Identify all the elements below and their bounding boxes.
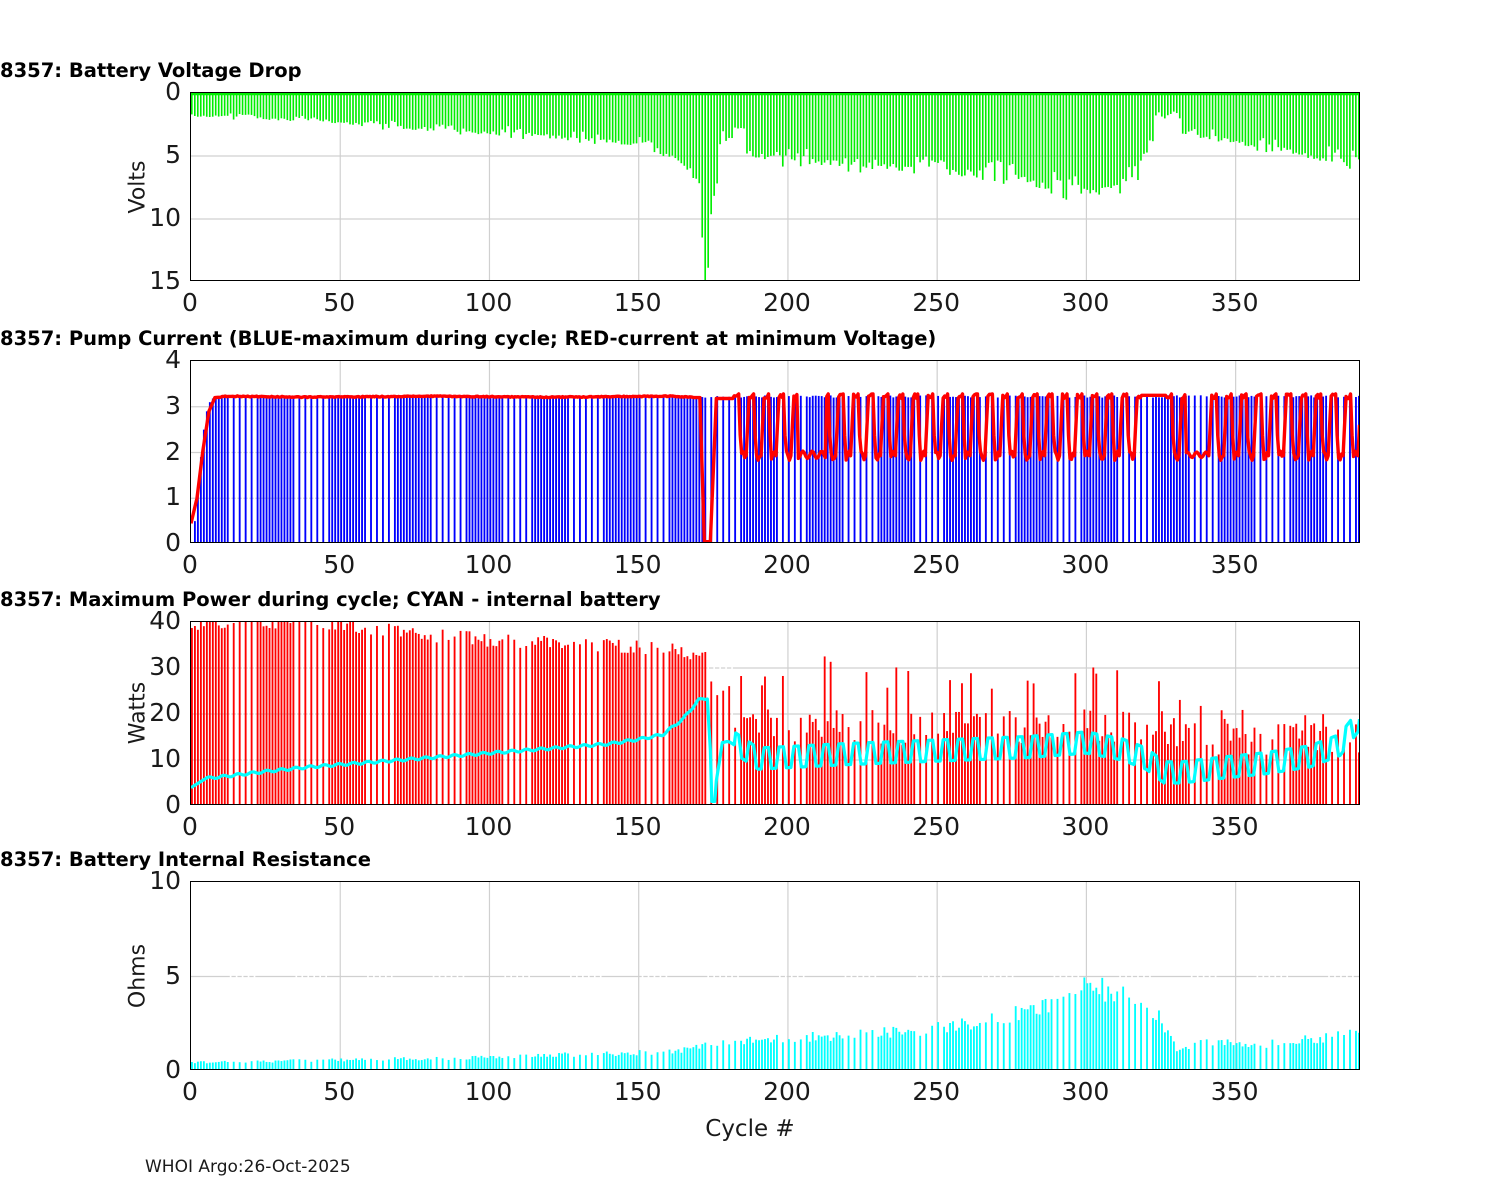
internal-resistance-bar xyxy=(1107,986,1109,1070)
pump-current-max-bar xyxy=(1116,397,1118,543)
comb-gap xyxy=(325,882,327,1070)
internal-resistance-bar xyxy=(669,1050,671,1070)
internal-resistance-bar xyxy=(266,1062,268,1070)
voltage-drop-bar xyxy=(322,93,324,121)
internal-resistance-bar xyxy=(680,1053,682,1070)
maximum-power-bar xyxy=(349,622,351,805)
pump-current-max-bar xyxy=(484,397,486,543)
maximum-power-bar xyxy=(1027,681,1029,805)
internal-resistance-bar xyxy=(764,1039,766,1070)
voltage-drop-bar xyxy=(985,93,987,167)
maximum-power-bar xyxy=(872,710,874,805)
internal-resistance-bar xyxy=(454,1058,456,1070)
voltage-drop-bar xyxy=(791,93,793,159)
pump-current-max-bar xyxy=(1057,396,1059,543)
voltage-drop-bar xyxy=(209,93,211,117)
comb-gap xyxy=(236,622,238,805)
comb-gap xyxy=(254,882,256,1070)
maximum-power-bar xyxy=(269,628,271,805)
pump-current-max-bar xyxy=(513,396,515,543)
maximum-power-bar xyxy=(663,653,665,805)
voltage-drop-bar xyxy=(540,93,542,135)
maximum-power-bar xyxy=(624,653,626,805)
voltage-drop-bar xyxy=(364,93,366,122)
internal-resistance-bar xyxy=(478,1057,480,1070)
internal-resistance-bar xyxy=(1033,1005,1035,1070)
internal-resistance-bar xyxy=(269,1062,271,1070)
pump-current-max-bar xyxy=(310,397,312,543)
internal-resistance-bar xyxy=(919,1036,921,1070)
voltage-drop-bar xyxy=(779,93,781,155)
internal-resistance-bar xyxy=(355,1058,357,1070)
comb-gap xyxy=(666,882,668,1070)
voltage-drop-bar xyxy=(776,93,778,152)
voltage-drop-bar xyxy=(824,93,826,163)
voltage-drop-bar xyxy=(191,93,193,114)
voltage-drop-bar xyxy=(889,93,891,166)
voltage-drop-bar xyxy=(1286,93,1288,150)
internal-resistance-bar xyxy=(836,1032,838,1070)
internal-resistance-bar xyxy=(191,1062,193,1070)
maximum-power-bar xyxy=(284,622,286,805)
comb-gap xyxy=(1077,882,1079,1070)
internal-resistance-bar xyxy=(573,1057,575,1070)
pump-current-max-bar xyxy=(272,396,274,543)
internal-resistance-bar xyxy=(860,1030,862,1070)
voltage-drop-bar xyxy=(1185,93,1187,134)
voltage-drop-bar xyxy=(257,93,259,118)
voltage-drop-bar xyxy=(1313,93,1315,159)
voltage-drop-bar xyxy=(1104,93,1106,187)
comb-gap xyxy=(845,882,847,1070)
internal-resistance-bar xyxy=(827,1035,829,1070)
pump-current-max-bar xyxy=(689,398,691,543)
comb-gap xyxy=(230,882,232,1070)
voltage-drop-bar xyxy=(430,93,432,128)
internal-resistance-bar xyxy=(552,1057,554,1070)
voltage-drop-bar xyxy=(331,93,333,123)
internal-resistance-bar xyxy=(907,1030,909,1070)
voltage-drop-bar xyxy=(1343,93,1345,162)
voltage-drop-bar xyxy=(316,93,318,119)
internal-resistance-bar xyxy=(818,1035,820,1070)
maximum-power-bar xyxy=(382,635,384,805)
internal-resistance-bar xyxy=(448,1060,450,1070)
voltage-drop-bar xyxy=(337,93,339,122)
comb-gap xyxy=(857,882,859,1070)
maximum-power-bar xyxy=(448,640,450,805)
pump-current-max-bar xyxy=(403,396,405,543)
voltage-drop-bar xyxy=(358,93,360,124)
maximum-power-bar xyxy=(997,734,999,805)
voltage-drop-bar xyxy=(1236,93,1238,141)
maximum-power-bar xyxy=(633,652,635,805)
internal-resistance-bar xyxy=(806,1035,808,1070)
comb-gap xyxy=(1149,882,1151,1070)
internal-resistance-bar xyxy=(501,1058,503,1070)
voltage-drop-bar xyxy=(239,93,241,114)
internal-resistance-bar xyxy=(337,1061,339,1070)
voltage-drop-bar xyxy=(1036,93,1038,187)
voltage-drop-bar xyxy=(424,93,426,127)
voltage-drop-bar xyxy=(767,93,769,157)
internal-resistance-bar xyxy=(361,1058,363,1070)
maximum-power-bar xyxy=(561,648,563,805)
voltage-drop-bar xyxy=(260,93,262,117)
internal-resistance-bar xyxy=(624,1053,626,1070)
maximum-power-bar xyxy=(1245,734,1247,805)
maximum-power-bar xyxy=(492,646,494,805)
internal-resistance-bar xyxy=(639,1050,641,1070)
maximum-power-bar xyxy=(364,628,366,805)
panel-2-ytick-1: 1 xyxy=(165,481,181,513)
internal-resistance-bar xyxy=(952,1021,954,1070)
voltage-drop-bar xyxy=(1086,93,1088,190)
internal-resistance-bar xyxy=(1260,1046,1262,1070)
voltage-drop-bar xyxy=(513,93,515,132)
internal-resistance-bar xyxy=(839,1035,841,1070)
maximum-power-bar xyxy=(1179,700,1181,805)
panel-4-plot-area xyxy=(190,881,1360,1070)
maximum-power-bar xyxy=(1176,746,1178,805)
maximum-power-bar xyxy=(1265,755,1267,805)
maximum-power-bar xyxy=(752,714,754,805)
comb-gap xyxy=(1274,361,1276,543)
voltage-drop-bar xyxy=(919,93,921,162)
internal-resistance-bar xyxy=(1045,999,1047,1070)
comb-gap xyxy=(928,361,930,543)
voltage-drop-bar xyxy=(275,93,277,119)
voltage-drop-bar xyxy=(854,93,856,162)
maximum-power-bar xyxy=(1349,742,1351,805)
internal-resistance-bar xyxy=(1170,1036,1172,1070)
voltage-drop-bar xyxy=(1083,93,1085,189)
comb-gap xyxy=(1263,882,1265,1070)
comb-gap xyxy=(242,882,244,1070)
comb-gap xyxy=(510,361,512,543)
pump-current-max-bar xyxy=(495,397,497,543)
pump-current-max-bar xyxy=(337,395,339,543)
internal-resistance-bar xyxy=(800,1039,802,1070)
maximum-power-bar xyxy=(1018,742,1020,805)
voltage-drop-bar xyxy=(866,93,868,168)
internal-resistance-bar xyxy=(1164,1032,1166,1070)
voltage-drop-bar xyxy=(1307,93,1309,158)
voltage-drop-bar xyxy=(367,93,369,122)
internal-resistance-bar xyxy=(1030,1005,1032,1070)
voltage-drop-bar xyxy=(448,93,450,126)
maximum-power-bar xyxy=(239,622,241,805)
voltage-drop-bar xyxy=(1304,93,1306,153)
internal-resistance-bar xyxy=(1325,1033,1327,1070)
voltage-drop-bar xyxy=(725,93,727,141)
internal-resistance-bar xyxy=(758,1040,760,1070)
pump-current-max-bar xyxy=(427,396,429,543)
pump-current-max-bar xyxy=(818,396,820,543)
pump-current-max-bar xyxy=(469,397,471,543)
internal-resistance-bar xyxy=(1113,1001,1115,1070)
pump-current-max-bar xyxy=(316,396,318,543)
maximum-power-bar xyxy=(1260,734,1262,805)
maximum-power-bar xyxy=(403,630,405,805)
maximum-power-bar xyxy=(1358,752,1360,805)
voltage-drop-bar xyxy=(475,93,477,133)
internal-resistance-bar xyxy=(263,1061,265,1070)
comb-gap xyxy=(988,361,990,543)
voltage-drop-bar xyxy=(818,93,820,161)
maximum-power-bar xyxy=(1173,718,1175,805)
voltage-drop-bar xyxy=(558,93,560,136)
voltage-drop-bar xyxy=(1006,93,1008,180)
comb-gap xyxy=(1340,882,1342,1070)
voltage-drop-bar xyxy=(1263,93,1265,138)
voltage-drop-bar xyxy=(609,93,611,140)
maximum-power-bar xyxy=(603,640,605,805)
pump-current-max-bar xyxy=(663,396,665,543)
comb-gap xyxy=(1215,882,1217,1070)
voltage-drop-bar xyxy=(507,93,509,126)
internal-resistance-bar xyxy=(287,1060,289,1070)
maximum-power-bar xyxy=(498,641,500,805)
internal-resistance-bar xyxy=(364,1060,366,1070)
voltage-drop-bar xyxy=(737,93,739,129)
maximum-power-bar xyxy=(898,743,900,805)
pump-current-max-bar xyxy=(573,396,575,543)
pump-current-max-bar xyxy=(639,396,641,543)
voltage-drop-bar xyxy=(872,93,874,169)
voltage-drop-bar xyxy=(484,93,486,132)
pump-current-max-bar xyxy=(743,397,745,543)
maximum-power-bar xyxy=(585,639,587,805)
voltage-drop-bar xyxy=(672,93,674,156)
internal-resistance-bar xyxy=(1063,997,1065,1070)
comb-gap xyxy=(648,622,650,805)
pump-current-max-bar xyxy=(388,396,390,543)
voltage-drop-bar xyxy=(728,93,730,138)
internal-resistance-bar xyxy=(415,1059,417,1070)
pump-current-max-bar xyxy=(397,396,399,543)
maximum-power-bar xyxy=(630,647,632,805)
internal-resistance-bar xyxy=(788,1039,790,1070)
voltage-drop-bar xyxy=(698,93,700,183)
voltage-drop-bar xyxy=(442,93,444,125)
internal-resistance-bar xyxy=(1343,1035,1345,1070)
maximum-power-bar xyxy=(352,622,354,805)
voltage-drop-bar xyxy=(1131,93,1133,177)
pump-current-max-bar xyxy=(361,397,363,543)
panel-1-xtick-250: 250 xyxy=(896,287,976,319)
pump-current-max-bar xyxy=(1158,397,1160,543)
maximum-power-bar xyxy=(334,630,336,805)
internal-resistance-bar xyxy=(409,1059,411,1070)
comb-gap xyxy=(707,882,709,1070)
panel-3-xtick-0: 0 xyxy=(150,811,230,843)
voltage-drop-bar xyxy=(576,93,578,138)
internal-resistance-bar xyxy=(1245,1044,1247,1070)
internal-resistance-bar xyxy=(1101,978,1103,1070)
voltage-drop-bar xyxy=(1137,93,1139,180)
internal-resistance-bar xyxy=(782,1042,784,1070)
voltage-drop-bar xyxy=(1048,93,1050,188)
maximum-power-bar xyxy=(749,717,751,805)
pump-current-max-bar xyxy=(346,396,348,543)
comb-gap xyxy=(1137,882,1139,1070)
maximum-power-bar xyxy=(460,631,462,805)
voltage-drop-bar xyxy=(361,93,363,126)
pump-current-max-bar xyxy=(334,398,336,543)
pump-current-max-bar xyxy=(967,396,969,543)
internal-resistance-bar xyxy=(349,1060,351,1070)
pump-current-max-bar xyxy=(1200,395,1202,543)
pump-current-max-bar xyxy=(561,396,563,543)
voltage-drop-bar xyxy=(319,93,321,121)
comb-gap xyxy=(869,361,871,543)
comb-gap xyxy=(916,882,918,1070)
internal-resistance-bar xyxy=(430,1059,432,1070)
internal-resistance-bar xyxy=(943,1027,945,1070)
voltage-drop-bar xyxy=(546,93,548,134)
internal-resistance-bar xyxy=(436,1057,438,1070)
voltage-drop-bar xyxy=(537,93,539,135)
pump-current-max-bar xyxy=(621,396,623,543)
pump-current-max-bar xyxy=(615,395,617,543)
pump-current-max-bar xyxy=(436,398,438,543)
maximum-power-bar xyxy=(1316,750,1318,805)
comb-gap xyxy=(863,882,865,1070)
maximum-power-bar xyxy=(967,723,969,805)
comb-gap xyxy=(504,882,506,1070)
voltage-drop-bar xyxy=(266,93,268,119)
pump-current-max-bar xyxy=(415,397,417,543)
maximum-power-bar xyxy=(552,639,554,805)
comb-gap xyxy=(307,361,309,543)
voltage-drop-bar xyxy=(218,93,220,117)
voltage-drop-bar xyxy=(755,93,757,157)
voltage-drop-bar xyxy=(1310,93,1312,156)
voltage-drop-bar xyxy=(657,93,659,148)
voltage-drop-bar xyxy=(860,93,862,172)
voltage-drop-bar xyxy=(1337,93,1339,149)
pump-current-max-bar xyxy=(815,396,817,543)
voltage-drop-bar xyxy=(603,93,605,140)
internal-resistance-bar xyxy=(740,1041,742,1070)
internal-resistance-bar xyxy=(1146,1008,1148,1070)
internal-resistance-bar xyxy=(376,1060,378,1070)
comb-gap xyxy=(1334,882,1336,1070)
maximum-power-bar xyxy=(657,648,659,805)
voltage-drop-bar xyxy=(1039,93,1041,188)
maximum-power-bar xyxy=(1325,727,1327,805)
pump-current-max-bar xyxy=(1155,397,1157,543)
voltage-drop-bar xyxy=(451,93,453,126)
internal-resistance-bar xyxy=(728,1044,730,1070)
voltage-drop-bar xyxy=(710,93,712,214)
comb-gap xyxy=(725,882,727,1070)
maximum-power-bar xyxy=(388,624,390,805)
comb-gap xyxy=(1012,882,1014,1070)
comb-gap xyxy=(367,622,369,805)
internal-resistance-bar xyxy=(1122,987,1124,1070)
internal-resistance-bar xyxy=(525,1055,527,1070)
comb-gap xyxy=(528,622,530,805)
maximum-power-bar xyxy=(397,626,399,805)
internal-resistance-bar xyxy=(1292,1043,1294,1070)
maximum-power-bar xyxy=(1295,724,1297,805)
voltage-drop-bar xyxy=(1027,93,1029,182)
voltage-drop-bar xyxy=(501,93,503,130)
voltage-drop-bar xyxy=(1152,93,1154,141)
comb-gap xyxy=(1143,361,1145,543)
voltage-drop-bar xyxy=(982,93,984,180)
voltage-drop-bar xyxy=(1012,93,1014,164)
internal-resistance-bar xyxy=(406,1060,408,1070)
voltage-drop-bar xyxy=(340,93,342,123)
comb-gap xyxy=(1066,882,1068,1070)
internal-resistance-bar xyxy=(815,1040,817,1070)
voltage-drop-bar xyxy=(716,93,718,183)
comb-gap xyxy=(528,361,530,543)
maximum-power-bar xyxy=(519,648,521,805)
voltage-drop-bar xyxy=(1134,93,1136,166)
panel-3-ytick-30: 30 xyxy=(149,651,181,683)
voltage-drop-bar xyxy=(543,93,545,135)
internal-resistance-bar xyxy=(546,1057,548,1070)
voltage-drop-bar xyxy=(1167,93,1169,115)
internal-resistance-bar xyxy=(949,1023,951,1070)
maximum-power-bar xyxy=(481,641,483,805)
comb-gap xyxy=(731,622,733,805)
maximum-power-bar xyxy=(678,654,680,805)
comb-gap xyxy=(1191,882,1193,1070)
internal-resistance-bar xyxy=(1313,1043,1315,1070)
pump-current-max-bar xyxy=(245,396,247,543)
internal-resistance-bar xyxy=(970,1029,972,1070)
maximum-power-bar xyxy=(1146,725,1148,805)
pump-current-max-bar xyxy=(525,397,527,543)
comb-gap xyxy=(379,882,381,1070)
maximum-power-bar xyxy=(442,630,444,805)
comb-gap xyxy=(803,882,805,1070)
voltage-drop-bar xyxy=(289,93,291,121)
internal-resistance-bar xyxy=(1083,977,1085,1070)
comb-gap xyxy=(1286,361,1288,543)
comb-gap xyxy=(576,622,578,805)
maximum-power-bar xyxy=(645,654,647,805)
maximum-power-bar xyxy=(343,630,345,805)
voltage-drop-bar xyxy=(910,93,912,167)
voltage-drop-bar xyxy=(534,93,536,134)
internal-resistance-bar xyxy=(239,1062,241,1070)
pump-current-max-bar xyxy=(809,397,811,543)
pump-current-max-bar xyxy=(821,396,823,543)
voltage-drop-bar xyxy=(391,93,393,121)
internal-resistance-bar xyxy=(1295,1044,1297,1070)
comb-gap xyxy=(1352,882,1354,1070)
comb-gap xyxy=(451,622,453,805)
internal-resistance-bar xyxy=(1036,1014,1038,1070)
comb-gap xyxy=(319,361,321,543)
pump-current-max-bar xyxy=(1086,398,1088,543)
comb-gap xyxy=(1071,882,1073,1070)
maximum-power-bar xyxy=(809,715,811,805)
voltage-drop-bar xyxy=(466,93,468,132)
voltage-drop-bar xyxy=(770,93,772,156)
voltage-drop-bar xyxy=(1173,93,1175,112)
internal-resistance-bar xyxy=(260,1062,262,1070)
voltage-drop-bar xyxy=(1328,93,1330,146)
internal-resistance-bar xyxy=(1161,1023,1163,1070)
comb-gap xyxy=(1257,882,1259,1070)
